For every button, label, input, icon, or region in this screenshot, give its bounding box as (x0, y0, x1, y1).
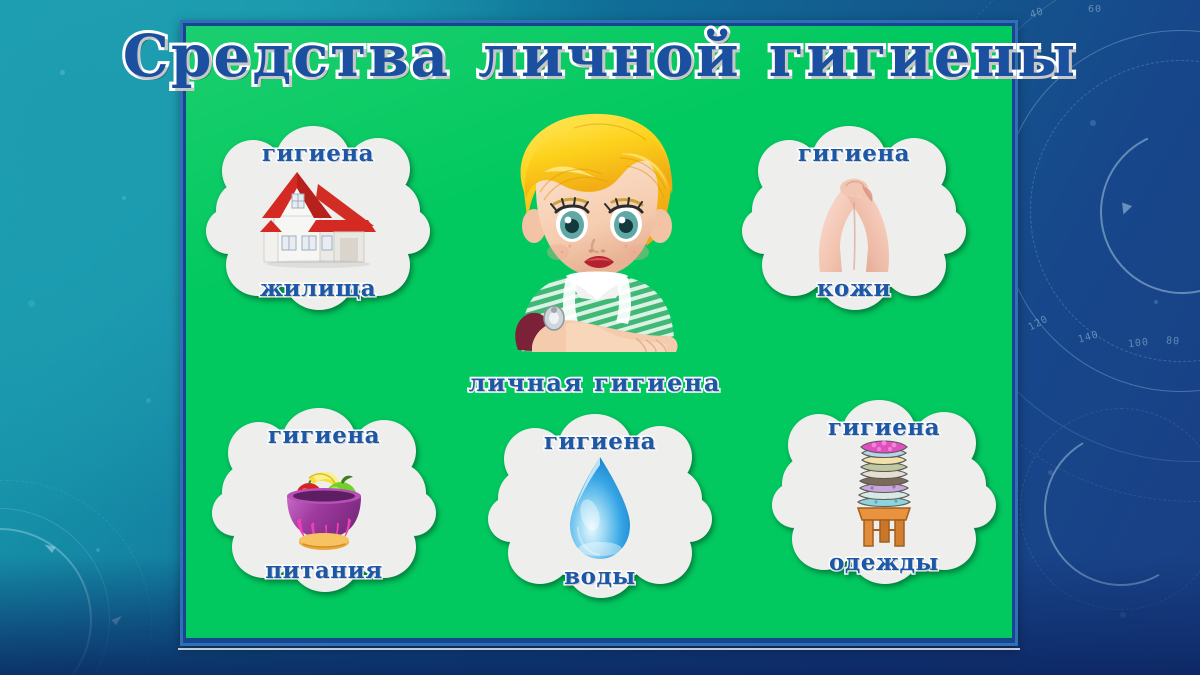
card-housing-bottom-label: жилища (206, 275, 430, 302)
water-drop-icon (558, 453, 642, 563)
cloud-blob (384, 208, 430, 254)
title-word-3: гигиены (769, 22, 1078, 90)
card-nutrition-top-label: гигиена (212, 422, 436, 449)
title-word-1: Средства (123, 22, 450, 90)
compass-degree-label: 100 (1127, 337, 1149, 350)
card-clothing-top-label: гигиена (772, 414, 996, 441)
card-skin-top-label: гигиена (742, 140, 966, 167)
cloud-blob (920, 208, 966, 254)
compass-degree-label: 60 (1088, 4, 1102, 15)
card-skin-bottom-label: кожи (742, 275, 966, 302)
title-word-2: личной (478, 22, 741, 90)
cloud-blob (950, 482, 996, 528)
card-nutrition[interactable]: гигиена питания (212, 404, 436, 600)
cloud-blob (666, 496, 712, 542)
slide-canvas: ◄ ▼ 120 140 100 80 40 60 ◄ ► Средствалич… (0, 0, 1200, 675)
folded-clothes-on-stool-icon (836, 436, 932, 552)
cloud-blob (742, 208, 788, 254)
card-clothing-bottom-label: одежды (772, 549, 996, 576)
child-illustration (470, 100, 720, 375)
center-label: личная гигиена (440, 368, 750, 397)
card-skin[interactable]: гигиена кожи (742, 122, 966, 318)
card-water[interactable]: гигиена воды (488, 410, 712, 606)
fruit-bowl-icon (269, 452, 379, 552)
card-housing-top-label: гигиена (206, 140, 430, 167)
card-clothing[interactable]: гигиена одежды (772, 396, 996, 592)
compass-degree-label: 80 (1166, 336, 1181, 348)
card-housing[interactable]: гигиена жилища (206, 122, 430, 318)
card-water-top-label: гигиена (488, 428, 712, 455)
cloud-blob (206, 208, 252, 254)
card-water-bottom-label: воды (488, 563, 712, 590)
cloud-blob (390, 490, 436, 536)
cloud-blob (772, 482, 818, 528)
cloud-blob (212, 490, 258, 536)
house-icon (258, 168, 378, 272)
board-bottom-highlight (178, 648, 1020, 650)
card-nutrition-bottom-label: питания (212, 557, 436, 584)
page-title: Средстваличнойгигиены (0, 22, 1200, 90)
cloud-blob (488, 496, 534, 542)
clasped-hands-icon (802, 164, 906, 276)
